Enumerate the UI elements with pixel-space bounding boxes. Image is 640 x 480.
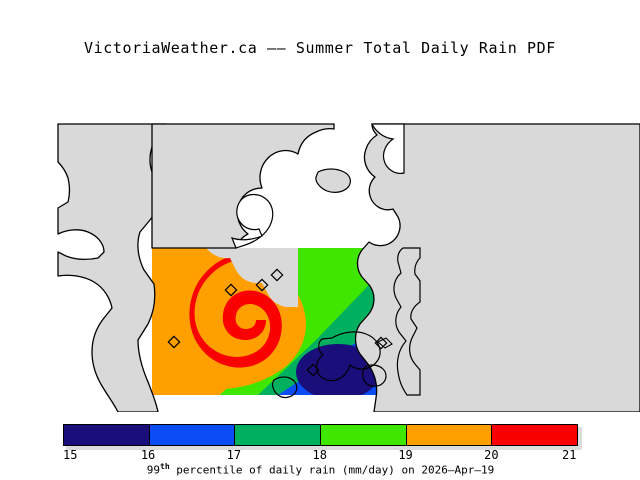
land-layer: [0, 62, 640, 412]
colorbar-swatch-2[interactable]: [235, 425, 321, 445]
colorbar-tick-6: 21: [562, 448, 576, 462]
colorbar-block: 15 16 17 18 19 20 21 99th percentile of …: [63, 424, 578, 474]
caption-suffix: percentile of daily rain (mm/day) on 202…: [170, 464, 495, 477]
colorbar-swatch-3[interactable]: [321, 425, 407, 445]
colorbar-tick-5: 20: [484, 448, 498, 462]
colorbar-swatch-1[interactable]: [150, 425, 236, 445]
caption-prefix: 99: [147, 464, 160, 477]
colorbar[interactable]: [63, 424, 578, 446]
colorbar-swatch-5[interactable]: [492, 425, 577, 445]
map-canvas[interactable]: [0, 62, 640, 412]
colorbar-tick-1: 16: [141, 448, 155, 462]
caption-superscript: th: [160, 462, 170, 471]
map-graphic[interactable]: [0, 62, 640, 412]
colorbar-shadow-right: [578, 427, 582, 449]
colorbar-tick-4: 19: [398, 448, 412, 462]
colorbar-swatch-0[interactable]: [64, 425, 150, 445]
colorbar-swatch-4[interactable]: [407, 425, 493, 445]
weather-map-page: VictoriaWeather.ca —— Summer Total Daily…: [0, 0, 640, 480]
colorbar-tick-0: 15: [63, 448, 77, 462]
colorbar-tick-3: 18: [313, 448, 327, 462]
page-title: VictoriaWeather.ca —— Summer Total Daily…: [0, 39, 640, 57]
colorbar-tick-2: 17: [227, 448, 241, 462]
colorbar-caption: 99th percentile of daily rain (mm/day) o…: [63, 462, 578, 477]
